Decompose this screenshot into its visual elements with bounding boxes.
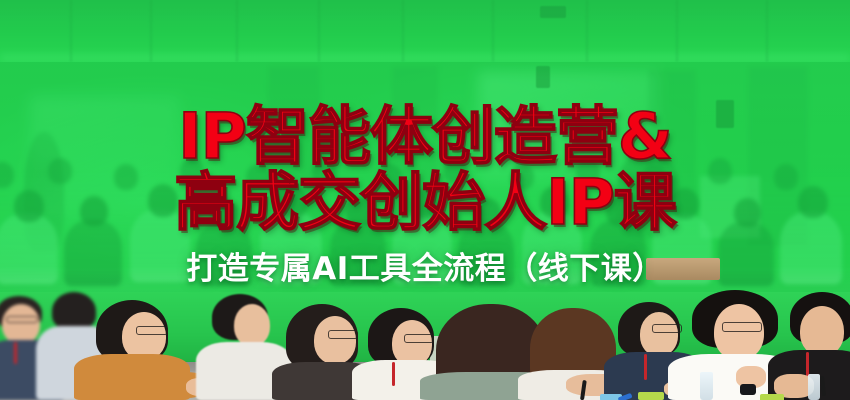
- banner-text-layer: IP智能体创造营& 高成交创始人IP课 打造专属AI工具全流程（线下课）: [0, 0, 850, 400]
- banner-subtitle: 打造专属AI工具全流程（线下课）: [0, 250, 850, 288]
- promo-banner: IP智能体创造营& 高成交创始人IP课 打造专属AI工具全流程（线下课）: [0, 0, 850, 400]
- banner-title-line-2: 高成交创始人IP课: [0, 170, 850, 236]
- banner-title-line-1: IP智能体创造营&: [0, 104, 850, 170]
